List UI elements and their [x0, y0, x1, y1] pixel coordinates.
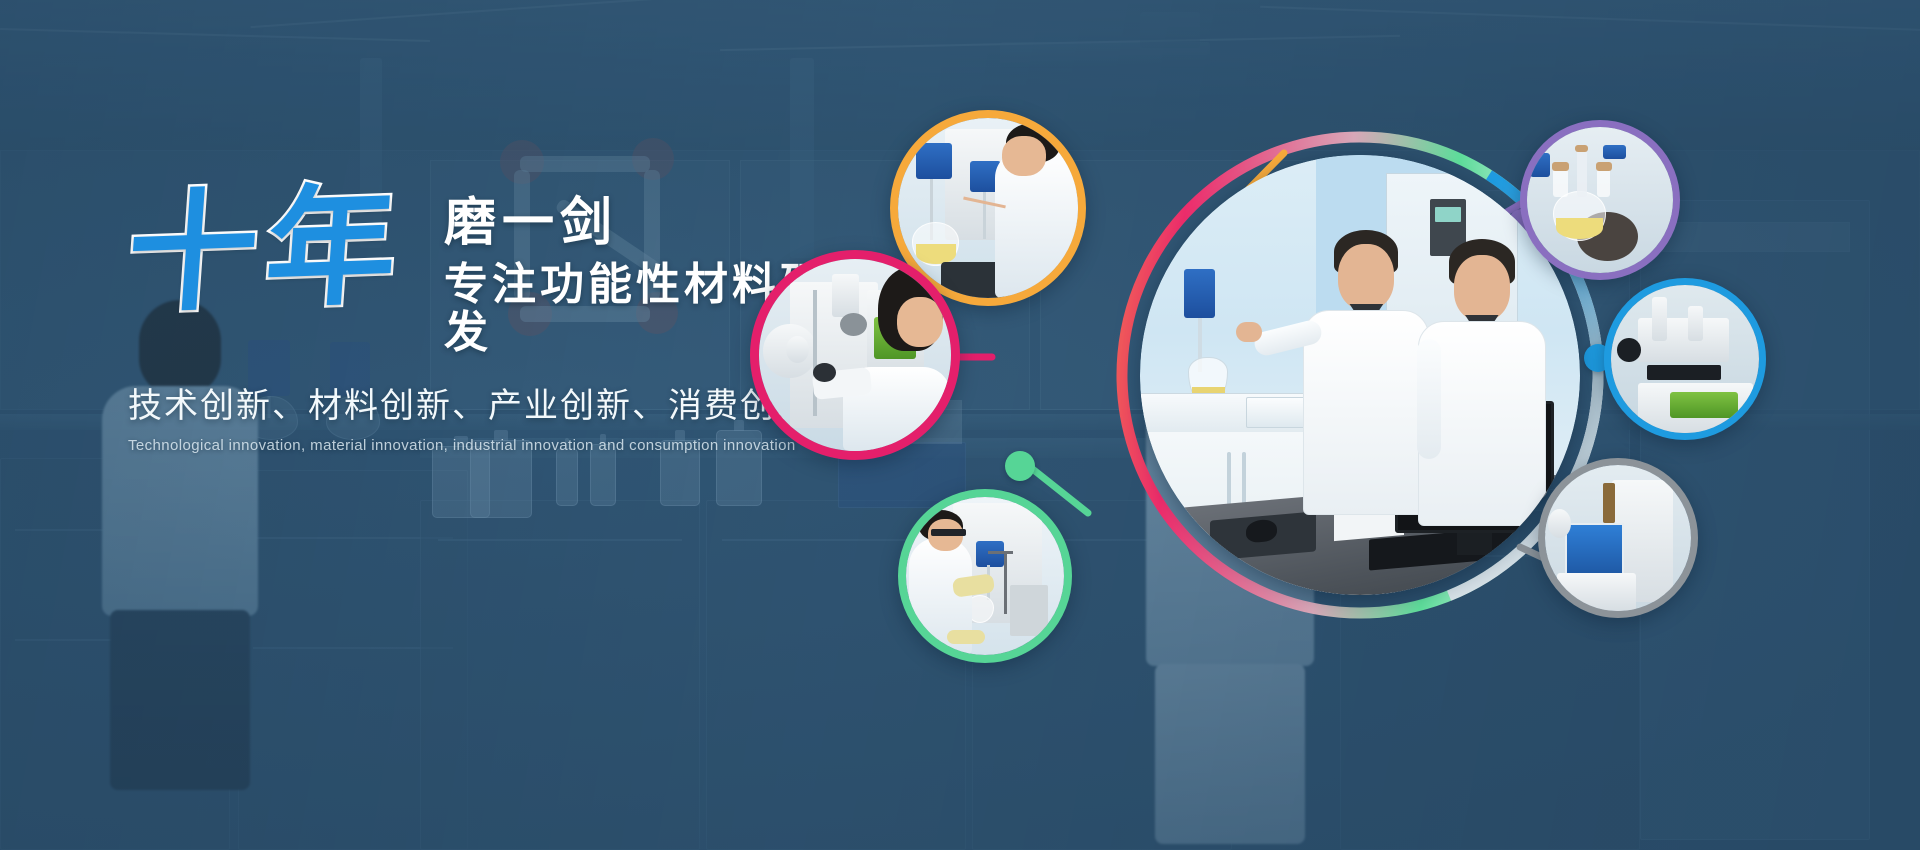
brush-calligraphy-title: 十年	[123, 180, 409, 320]
photo-fume-hood-technician	[906, 497, 1064, 655]
researcher-second	[1413, 239, 1551, 529]
photo-coating-test-instrument	[1611, 285, 1759, 433]
photo-winding-machine-operator	[759, 259, 951, 451]
node-center-main[interactable]: iFound	[1140, 155, 1580, 595]
connector-dot-green	[1005, 451, 1035, 481]
photo-analysis-workstation	[1545, 465, 1691, 611]
rd-capability-circle-diagram: iFound	[820, 95, 1880, 655]
subtitle-english: Technological innovation, material innov…	[128, 437, 828, 454]
hero-text-block: 十年 磨一剑 专注功能性材料研发 技术创新、材料创新、产业创新、消费创新 Tec…	[128, 190, 828, 454]
subtitle-chinese: 技术创新、材料创新、产业创新、消费创新	[128, 378, 828, 427]
node-gray[interactable]	[1538, 458, 1698, 618]
photo-three-neck-flask	[1527, 127, 1673, 273]
node-pink[interactable]	[750, 250, 960, 460]
node-purple[interactable]	[1520, 120, 1680, 280]
center-photo: iFound	[1140, 155, 1580, 595]
node-green[interactable]	[898, 489, 1072, 663]
node-blue[interactable]	[1604, 278, 1766, 440]
banner-hero: 十年 磨一剑 专注功能性材料研发 技术创新、材料创新、产业创新、消费创新 Tec…	[0, 0, 1920, 850]
headline-row: 十年 磨一剑 专注功能性材料研发	[128, 190, 828, 320]
headline-line-1: 磨一剑	[444, 196, 828, 251]
